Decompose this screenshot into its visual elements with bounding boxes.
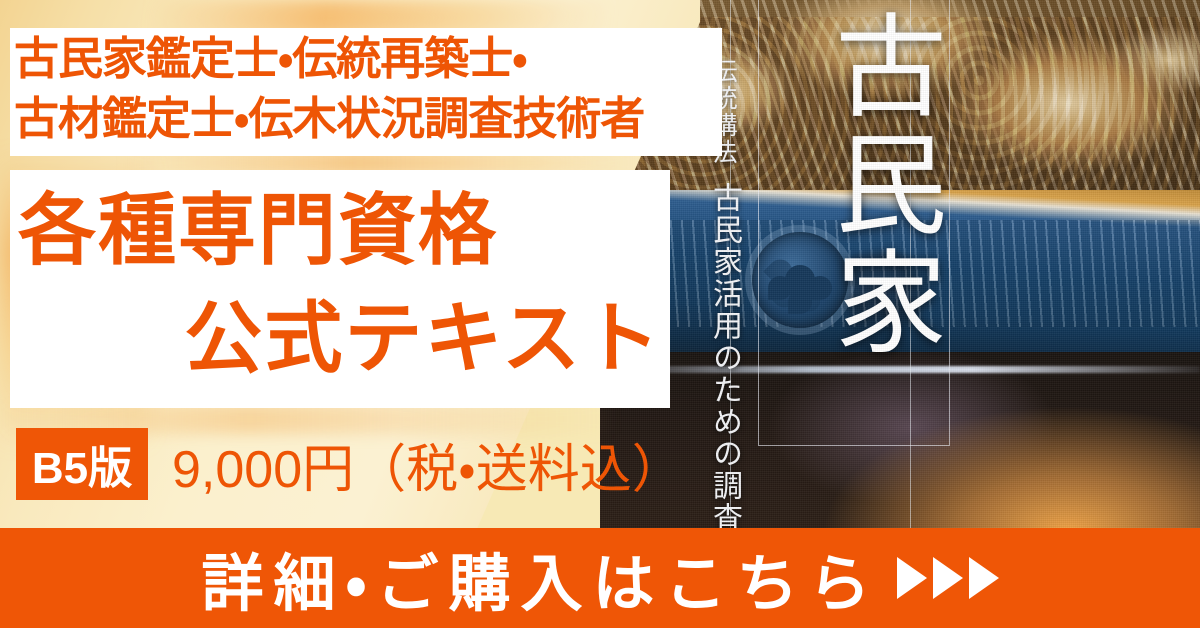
page-title: 各種専門資格 公式テキスト [18, 176, 668, 392]
arrow-right-icon [969, 557, 999, 599]
qualification-line-2: 古材鑑定士・伝木状況調査技術者 [14, 89, 718, 149]
arrow-right-icon [933, 557, 963, 599]
price-label: 9,000円（税・送料込） [172, 427, 684, 502]
format-badge: B5版 [16, 428, 148, 500]
promo-banner: 古民家 伝統構法 古民家活用のための調査と再生の 古民家鑑定士・伝統再築士・ 古… [0, 0, 1200, 628]
headline-line-1: 各種専門資格 [18, 186, 498, 274]
cover-title: 古民家 [760, 8, 946, 362]
cover-caption-description: 古民家活用のための調査と再生の [702, 182, 746, 540]
cta-label: 詳細・ご購入はこちら [201, 533, 880, 623]
qualification-subtitle: 古民家鑑定士・伝統再築士・ 古材鑑定士・伝木状況調査技術者 [14, 29, 718, 149]
cta-bar[interactable]: 詳細・ご購入はこちら [0, 528, 1200, 628]
qualification-line-1: 古民家鑑定士・伝統再築士・ [14, 29, 718, 89]
price-row: B5版 9,000円（税・送料込） [16, 428, 684, 500]
cta-arrows [897, 557, 999, 599]
headline-line-2: 公式テキスト [18, 284, 668, 392]
arrow-right-icon [897, 557, 927, 599]
